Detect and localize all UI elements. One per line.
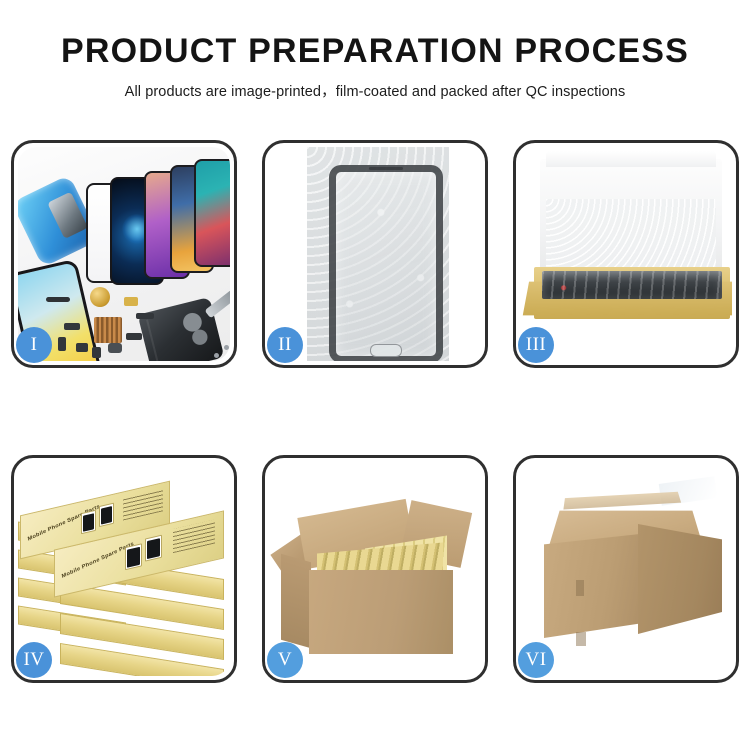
screw-part-1	[214, 353, 219, 358]
step-badge-1: I	[16, 327, 52, 363]
open-carton-photo	[269, 462, 481, 676]
vibration-motor-part	[90, 287, 110, 307]
page-title: PRODUCT PREPARATION PROCESS	[0, 34, 750, 70]
step-2-image	[269, 147, 481, 361]
page-subtitle: All products are image-printed，film-coat…	[0, 80, 750, 101]
speaker-part	[46, 297, 70, 302]
process-steps-grid: I II	[11, 140, 739, 683]
box-phone-thumb-front-2	[145, 535, 162, 562]
step-badge-3: III	[518, 327, 554, 363]
small-part-e	[136, 313, 154, 319]
kraft-box-with-foam-photo	[520, 147, 732, 361]
small-part-a	[58, 337, 66, 351]
packed-screen-unit	[542, 271, 722, 299]
step-5-image	[269, 462, 481, 676]
flex-cable-part	[64, 323, 80, 330]
bubble-wrap-surface	[307, 147, 449, 361]
step-1-image	[18, 147, 230, 361]
process-step-panel-2: II	[262, 140, 488, 368]
step-badge-2: II	[267, 327, 303, 363]
stacked-boxes-photo: Mobile Phone Spare Parts Mobile Phone Sp…	[18, 462, 230, 676]
phones-and-parts-photo	[18, 147, 230, 361]
foam-padding	[546, 199, 716, 271]
process-step-panel-3: III	[513, 140, 739, 368]
connector-grid-part	[94, 317, 122, 343]
packing-tape-strip	[563, 492, 681, 510]
step-badge-6: VI	[518, 642, 554, 678]
step-4-image: Mobile Phone Spare Parts Mobile Phone Sp…	[18, 462, 230, 676]
step-badge-4: IV	[16, 642, 52, 678]
small-part-b	[76, 343, 88, 352]
step-3-image	[520, 147, 732, 361]
box-brand-label-front: Mobile Phone Spare Parts	[61, 541, 134, 580]
small-part-c	[92, 347, 101, 358]
carton-front-panel	[309, 570, 453, 654]
box-phone-thumb-rear-1	[81, 510, 96, 534]
carton-seam-lower	[576, 632, 586, 646]
product-preparation-infographic: PRODUCT PREPARATION PROCESS All products…	[0, 0, 750, 750]
box-spec-lines-front	[173, 519, 215, 553]
carton-side-panel	[281, 554, 311, 649]
process-step-panel-6: VI	[513, 455, 739, 683]
gold-contact-part	[124, 297, 138, 306]
box-phone-thumb-rear-2	[99, 503, 114, 527]
box-spec-lines-rear	[123, 489, 163, 520]
carton-left-face	[544, 534, 640, 638]
carton-right-face	[638, 524, 722, 634]
screw-part-2	[224, 345, 229, 350]
camera-module-part	[108, 343, 122, 353]
phone-glass-panel	[329, 165, 443, 361]
box-phone-thumb-front-1	[125, 543, 142, 570]
step-6-image	[520, 462, 732, 676]
process-step-panel-1: I	[11, 140, 237, 368]
sealed-carton-photo	[520, 462, 732, 676]
bubble-wrapped-screen-photo	[269, 147, 481, 361]
home-button-cutout	[370, 344, 402, 357]
phone-screen-teal	[194, 159, 230, 267]
process-step-panel-5: V	[262, 455, 488, 683]
small-part-d	[126, 333, 142, 340]
carton-seam-upper	[576, 580, 584, 596]
step-badge-5: V	[267, 642, 303, 678]
process-step-panel-4: Mobile Phone Spare Parts Mobile Phone Sp…	[11, 455, 237, 683]
header: PRODUCT PREPARATION PROCESS All products…	[0, 34, 750, 101]
